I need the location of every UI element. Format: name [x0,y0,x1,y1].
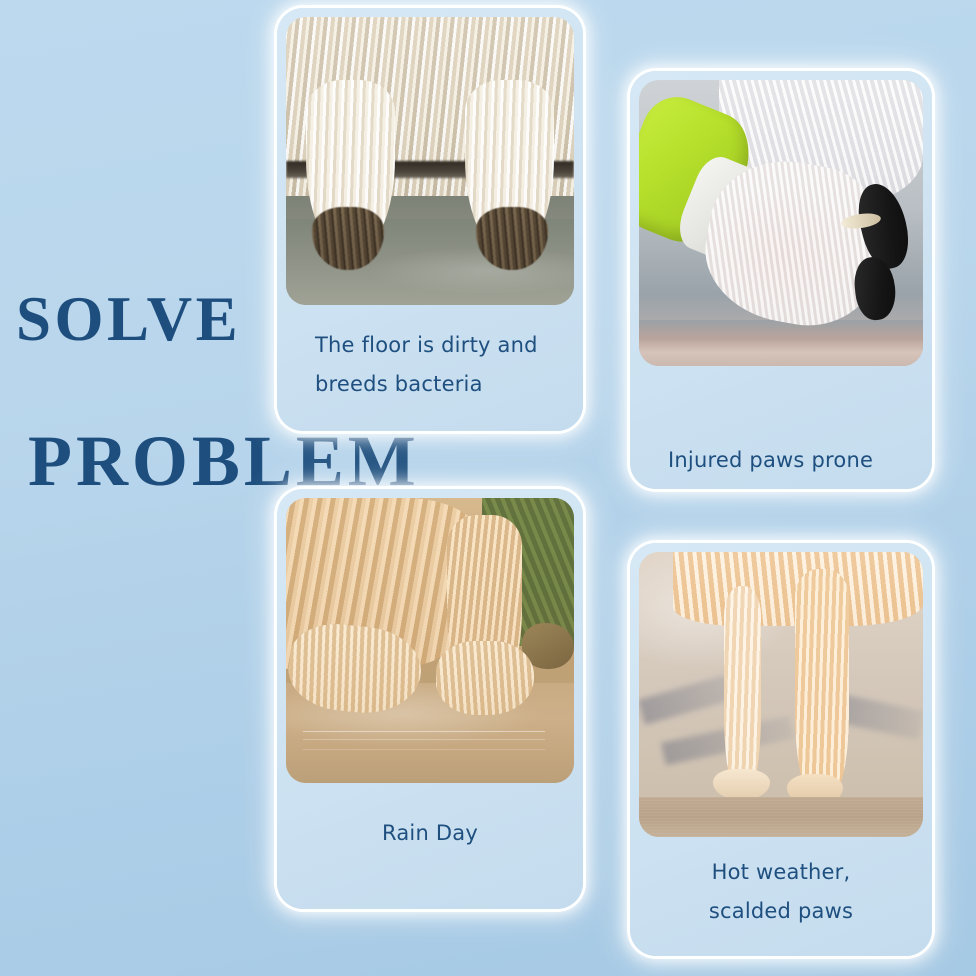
photo-paws-in-mud-puddle [286,498,574,783]
problem-card-hot-weather: Hot weather, scalded paws [630,543,932,956]
photo-bandaged-paw [639,80,923,366]
poster-canvas: SOLVE PROBLEM The floor is dirty and bre… [0,0,976,976]
headline-solve: SOLVE [16,288,241,351]
card-2-caption-line-1: Injured paws prone [668,441,932,480]
card-1-caption: The floor is dirty and breeds bacteria [277,326,583,404]
card-2-caption: Injured paws prone to infection [630,441,932,489]
photo-dog-legs-on-sand [639,552,923,837]
problem-card-floor-dirty: The floor is dirty and breeds bacteria [277,8,583,431]
card-3-caption: Rain Day [277,814,583,853]
card-1-caption-line-1: The floor is dirty and [315,326,583,365]
photo-dirty-paws-concrete [286,17,574,305]
card-4-caption-line-2: scalded paws [630,892,932,931]
card-3-caption-line-1: Rain Day [277,814,583,853]
problem-card-rain-day: Rain Day [277,489,583,909]
card-4-caption: Hot weather, scalded paws [630,853,932,931]
card-1-caption-line-2: breeds bacteria [315,365,583,404]
problem-card-injured-paws: Injured paws prone to infection [630,71,932,489]
card-4-caption-line-1: Hot weather, [630,853,932,892]
headline-problem: PROBLEM [28,425,420,497]
card-2-caption-line-2: to infection [668,480,932,489]
